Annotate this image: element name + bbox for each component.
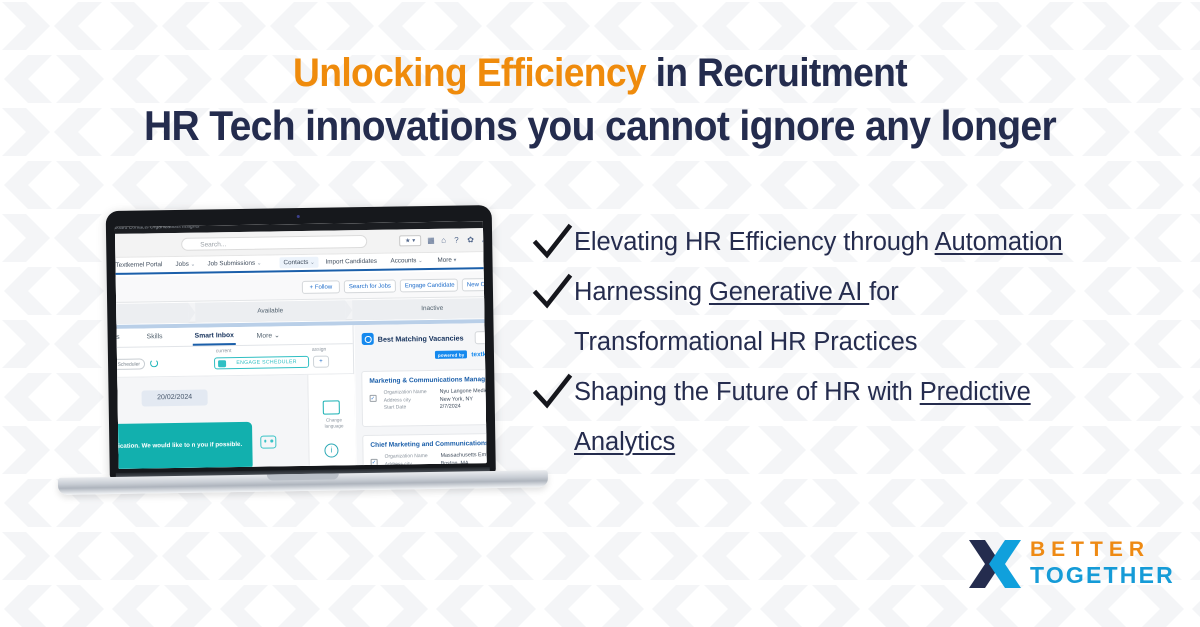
powered-by-label: powered by: [435, 350, 468, 359]
engage-icon: [218, 360, 226, 367]
headline-highlight: Unlocking Efficiency: [293, 51, 646, 95]
robot-icon: [260, 435, 276, 448]
textkernel-brand: textkernel: [471, 350, 486, 357]
bullet-3-link-2[interactable]: Analytics: [574, 428, 675, 456]
laptop-base-notch: [267, 473, 339, 480]
field-value: New York, NY: [440, 396, 473, 403]
info-icon[interactable]: i: [324, 443, 338, 457]
app-window: Dashboard Contacts Organizations Insight…: [115, 221, 487, 469]
nav-item-accounts[interactable]: Accounts ⌄: [390, 257, 422, 265]
search-for-jobs-button[interactable]: Search for Jobs: [344, 280, 396, 294]
headline-line-2: HR Tech innovations you cannot ignore an…: [42, 103, 1158, 148]
chevron-down-icon: ⌄: [274, 332, 280, 339]
benefits-list: Elevating HR Efficiency through Automati…: [530, 218, 1180, 468]
bullet-1-link[interactable]: Automation: [935, 228, 1063, 256]
favorites-star-icon[interactable]: ★ ▾: [399, 235, 421, 246]
path-stage-available[interactable]: Available: [195, 300, 345, 322]
list-item: Harnessing Generative AI for: [530, 268, 1180, 316]
nav-item-job-submissions-label: Job Submissions: [207, 260, 255, 268]
check-icon: [530, 268, 574, 316]
chat-side-rail: Change language i: [307, 374, 355, 466]
add-to-list-button[interactable]: Add to Lis: [475, 330, 487, 344]
laptop-screen: Dashboard Contacts Organizations Insight…: [115, 221, 487, 469]
nav-item-contacts-label: Contacts: [283, 259, 308, 266]
column-label-assign: assign: [312, 347, 327, 353]
search-input[interactable]: Search...: [181, 235, 367, 251]
list-item-continuation: Analytics: [530, 418, 1180, 466]
scheduler-pill[interactable]: e Scheduler: [115, 358, 145, 370]
bullet-2-link[interactable]: Generative AI: [709, 278, 869, 306]
app-launcher-icon[interactable]: ▦: [427, 235, 435, 246]
laptop-lid: Dashboard Contacts Organizations Insight…: [106, 205, 496, 479]
flag-icon[interactable]: [323, 400, 340, 414]
field-value: Nyu Langone Medical Center: [440, 388, 487, 395]
chat-transcript: 20/02/2024 your application. We would li…: [115, 375, 309, 469]
field-value: Massachusetts Employm: [441, 452, 487, 459]
new-contact-button[interactable]: New Contact: [462, 278, 487, 292]
tab-relations[interactable]: ons: [115, 334, 120, 341]
nav-item-import-candidates[interactable]: Import Candidates: [325, 258, 377, 266]
tab-skills[interactable]: Skills: [147, 333, 163, 340]
powered-by-badge: powered by textkernel: [435, 349, 487, 360]
tab-more[interactable]: More ⌄: [257, 331, 280, 339]
chat-date-separator: 20/02/2024: [141, 389, 207, 406]
chat-message-bubble: your application. We would like to n you…: [115, 422, 253, 469]
bullet-2-line-2: Transformational HR Practices: [574, 318, 917, 366]
list-item-text: Elevating HR Efficiency through Automati…: [574, 218, 1063, 266]
field-key: Organization Name: [384, 389, 427, 396]
engage-candidate-button[interactable]: Engage Candidate: [400, 279, 458, 293]
nav-item-more-label: More: [437, 257, 451, 264]
vacancy-title[interactable]: Marketing & Communications Manager -: [369, 375, 486, 385]
vacancy-card[interactable]: Chief Marketing and Communications Off ▁…: [362, 432, 486, 469]
chevron-down-icon: ⌄: [310, 260, 315, 266]
list-item: Shaping the Future of HR with Predictive: [530, 368, 1180, 416]
logo-word-better: BETTER: [1030, 538, 1150, 562]
brand-logo: BETTER TOGETHER: [968, 536, 1168, 592]
assign-button[interactable]: +: [313, 356, 329, 368]
field-key: Organization Name: [385, 453, 428, 460]
vacancy-search-icon: [362, 333, 374, 345]
nav-item-job-submissions[interactable]: Job Submissions ⌄: [207, 260, 261, 268]
nav-item-contacts[interactable]: Contacts ⌄: [279, 257, 318, 269]
follow-button[interactable]: + Follow: [302, 280, 340, 294]
field-value: 2/7/2024: [440, 403, 461, 409]
field-key: Start Date: [384, 404, 407, 410]
check-icon: [530, 368, 574, 416]
headline-line-1: Unlocking Efficiency in Recruitment: [42, 52, 1158, 95]
chevron-down-icon: ⌄: [191, 262, 196, 268]
vacancy-card[interactable]: Marketing & Communications Manager - ▁▃▅…: [361, 368, 486, 427]
list-item-text: Harnessing Generative AI for: [574, 268, 899, 316]
help-icon[interactable]: ?: [454, 235, 459, 246]
inbox-toolbar: current assign e Scheduler ENGAGE SCHEDU…: [115, 344, 353, 378]
bullet-3-link[interactable]: Predictive: [920, 378, 1031, 406]
x-logo-icon: [968, 538, 1022, 590]
path-stage-prior[interactable]: [115, 303, 189, 324]
chevron-down-icon: ⌄: [257, 261, 262, 267]
bullet-2-tail: for: [869, 278, 898, 306]
setup-gear-icon[interactable]: ✿: [467, 234, 474, 245]
caret-down-icon: ▾: [454, 258, 457, 264]
vacancy-title[interactable]: Chief Marketing and Communications Off: [370, 439, 486, 449]
refresh-icon[interactable]: [150, 359, 158, 367]
logo-word-together: TOGETHER: [1030, 562, 1175, 589]
field-key: Address city: [384, 397, 411, 403]
tab-more-label: More: [257, 332, 273, 339]
engage-scheduler-label: ENGAGE SCHEDULER: [236, 359, 297, 366]
headline-line-1-rest: in Recruitment: [646, 51, 907, 95]
field-key: Address city: [385, 461, 412, 467]
check-icon: [530, 218, 574, 266]
nav-item-accounts-label: Accounts: [390, 257, 416, 264]
best-matching-vacancies-title: Best Matching Vacancies: [378, 333, 464, 343]
list-item-continuation: Transformational HR Practices: [530, 318, 1180, 366]
field-value: Boston, MA: [441, 460, 469, 466]
bullet-2-lead: Harnessing: [574, 278, 709, 306]
chevron-down-icon: ⌄: [418, 258, 423, 264]
nav-item-jobs-label: Jobs: [175, 261, 188, 268]
nav-item-textkernel-portal[interactable]: Textkernel Portal: [115, 261, 162, 269]
column-label-current: current: [216, 348, 232, 354]
engage-scheduler-button[interactable]: ENGAGE SCHEDULER: [214, 356, 309, 369]
bullet-3-line-2: Analytics: [574, 418, 675, 466]
page-headline: Unlocking Efficiency in Recruitment HR T…: [0, 52, 1200, 149]
left-panel: ons Skills Smart Inbox More ⌄ current as…: [115, 325, 356, 469]
tab-smart-inbox[interactable]: Smart Inbox: [195, 332, 234, 340]
vacancy-field: Start Date 2/7/2024: [370, 402, 487, 412]
list-item-text: Shaping the Future of HR with Predictive: [574, 368, 1031, 416]
path-stage-inactive[interactable]: Inactive: [352, 298, 487, 321]
change-language-label: Change language: [317, 417, 351, 429]
home-icon[interactable]: ⌂: [441, 235, 446, 246]
nav-item-jobs[interactable]: Jobs ⌄: [175, 261, 195, 268]
right-panel: Best Matching Vacancies Add to Lis power…: [354, 323, 486, 466]
notifications-bell-icon[interactable]: ♟: [481, 234, 487, 245]
bullet-1-lead: Elevating HR Efficiency through: [574, 228, 935, 256]
webcam-icon: [297, 215, 300, 218]
list-item: Elevating HR Efficiency through Automati…: [530, 218, 1180, 266]
laptop-mockup: Dashboard Contacts Organizations Insight…: [54, 204, 549, 512]
nav-item-more[interactable]: More ▾: [437, 257, 456, 264]
browser-tab-labels[interactable]: Dashboard Contacts Organizations Insight…: [115, 224, 200, 232]
bullet-3-lead: Shaping the Future of HR with: [574, 378, 920, 406]
